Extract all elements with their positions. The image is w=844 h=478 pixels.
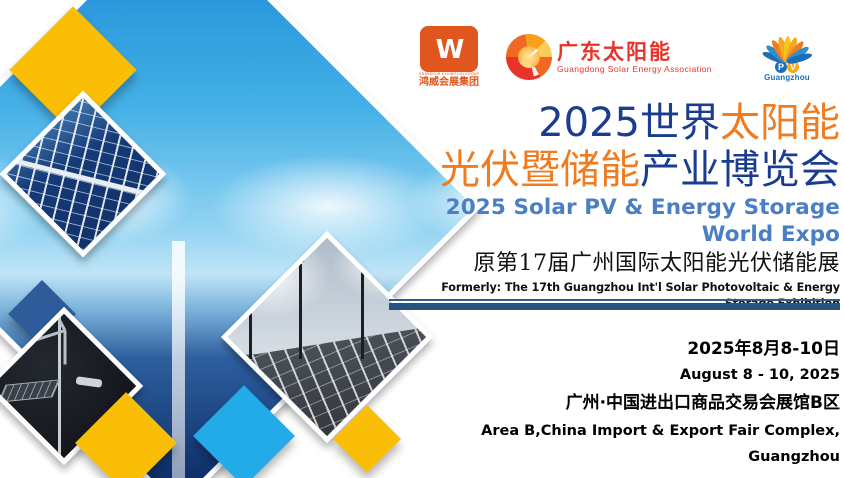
- title-line-1-navy: 2025世界: [538, 100, 720, 146]
- title-english: 2025 Solar PV & Energy Storage World Exp…: [396, 194, 840, 248]
- lamp-head: [76, 376, 103, 388]
- sun-rays-icon: [751, 26, 823, 62]
- photo-collage: [0, 0, 400, 478]
- event-banner: W GRANDEUR EXHIBITION GROUP 鸿威会展集团 广东太阳能…: [0, 0, 844, 478]
- event-date-cn: 2025年8月8-10日: [396, 336, 840, 362]
- logo-gsea-text: 广东太阳能 Guangdong Solar Energy Association: [557, 40, 712, 75]
- turbine-blade: [64, 330, 67, 364]
- wing-w-mark-icon: W: [420, 26, 478, 72]
- organizer-logo-row: W GRANDEUR EXHIBITION GROUP 鸿威会展集团 广东太阳能…: [396, 26, 836, 88]
- logo-gsea-cn: 广东太阳能: [557, 40, 712, 64]
- divider-thick: [389, 303, 840, 310]
- logo-badge-glyph: W: [436, 35, 463, 65]
- wind-turbine-mast: [299, 264, 302, 359]
- title-line-1-orange: 太阳能: [720, 100, 840, 146]
- venue-block: 2025年8月8-10日 August 8 - 10, 2025 广州·中国进出…: [396, 336, 840, 470]
- logo-grandeur-cn: 鸿威会展集团: [406, 77, 492, 88]
- title-line-2-orange: 光伏暨储能: [440, 147, 640, 193]
- logo-grandeur-exhibition-group[interactable]: W GRANDEUR EXHIBITION GROUP 鸿威会展集团: [406, 26, 492, 88]
- small-solar-panel: [0, 379, 60, 402]
- event-date-en: August 8 - 10, 2025: [396, 362, 840, 388]
- event-place-en: Area B,China Import & Export Fair Comple…: [396, 418, 840, 470]
- divider-thin: [389, 299, 840, 301]
- logo-guangdong-solar-energy-association[interactable]: 广东太阳能 Guangdong Solar Energy Association: [506, 26, 736, 88]
- logo-pv-city: Guangzhou: [744, 73, 830, 83]
- title-line-1: 2025世界太阳能: [396, 100, 840, 147]
- former-name-cn: 原第17届广州国际太阳能光伏储能展: [396, 248, 840, 280]
- title-block: 2025世界太阳能 光伏暨储能产业博览会 2025 Solar PV & Ene…: [396, 100, 840, 312]
- event-place-cn: 广州·中国进出口商品交易会展馆B区: [396, 388, 840, 418]
- title-line-2-navy: 产业博览会: [640, 147, 840, 193]
- title-line-2: 光伏暨储能产业博览会: [396, 147, 840, 194]
- logo-pv-guangzhou[interactable]: PV Guangzhou: [744, 26, 830, 88]
- logo-gsea-en: Guangdong Solar Energy Association: [557, 64, 712, 75]
- sun-spiral-icon: [506, 34, 552, 80]
